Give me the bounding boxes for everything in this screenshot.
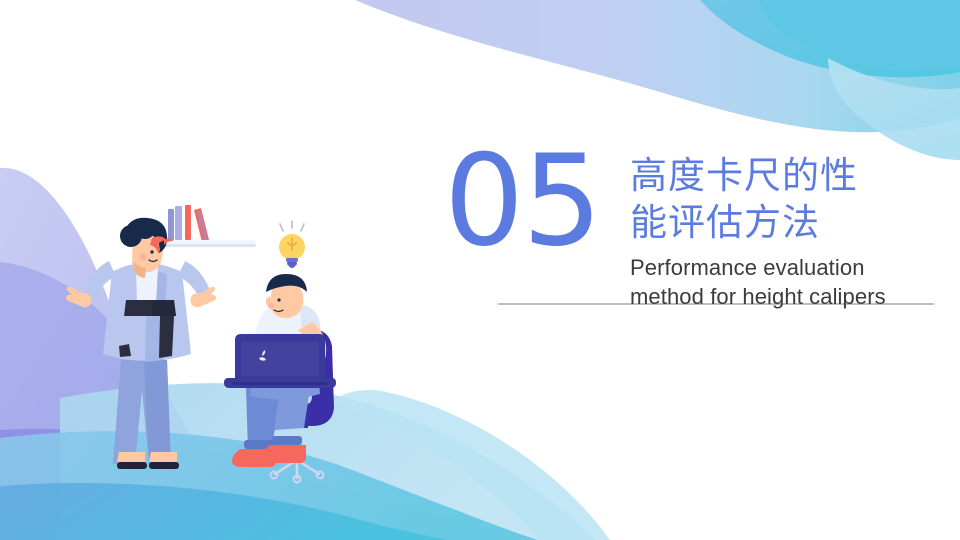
slide-canvas: 05 高度卡尺的性 能评估方法 Performance evaluation m… [0, 0, 960, 540]
section-title-chinese: 高度卡尺的性 能评估方法 [630, 152, 950, 246]
section-subtitle-english-line-2: method for height calipers [630, 282, 960, 311]
section-number: 05 [444, 138, 600, 264]
section-subtitle-english: Performance evaluation method for height… [630, 253, 960, 311]
section-subtitle-english-line-1: Performance evaluation [630, 253, 960, 282]
section-title-chinese-line-2: 能评估方法 [630, 199, 950, 246]
section-title-chinese-line-1: 高度卡尺的性 [630, 152, 950, 199]
